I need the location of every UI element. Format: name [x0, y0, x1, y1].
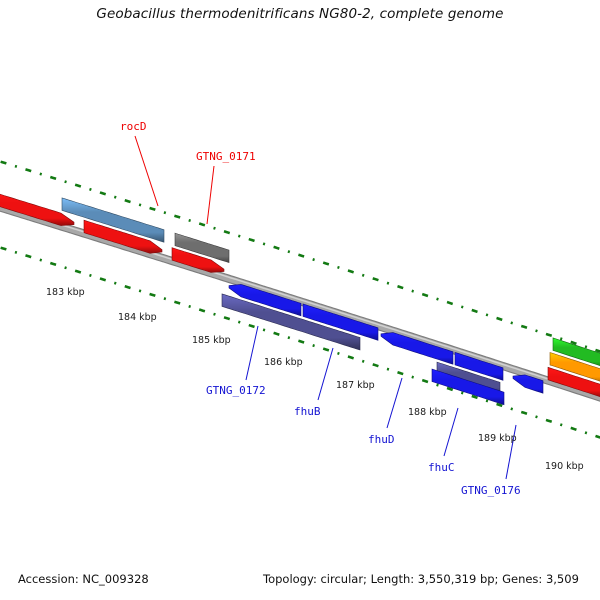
leader-line-GTNG_0171 — [207, 166, 214, 224]
ruler-tick-label: 185 kbp — [192, 335, 231, 346]
gene-label-GTNG_0171[interactable]: GTNG_0171 — [196, 150, 256, 163]
ruler-tick-label: 189 kbp — [478, 433, 517, 444]
gene-label-GTNG_0176[interactable]: GTNG_0176 — [461, 484, 521, 497]
leader-line-fhuD — [387, 378, 402, 428]
ruler-tick-label: 184 kbp — [118, 312, 157, 323]
gene-label-fhuB[interactable]: fhuB — [294, 405, 321, 418]
leader-line-rocD — [135, 136, 158, 206]
genome-view: Geobacillus thermodenitrificans NG80-2, … — [0, 0, 600, 600]
gene-label-fhuD[interactable]: fhuD — [368, 433, 395, 446]
genome-summary-text: Topology: circular; Length: 3,550,319 bp… — [263, 572, 579, 586]
gene-label-fhuC[interactable]: fhuC — [428, 461, 455, 474]
ruler-tick-label: 186 kbp — [264, 357, 303, 368]
leader-line-fhuB — [318, 348, 333, 400]
ruler-tick-label: 187 kbp — [336, 380, 375, 391]
gene-label-rocD[interactable]: rocD — [120, 120, 147, 133]
ruler-tick-label: 188 kbp — [408, 407, 447, 418]
accession-text: Accession: NC_009328 — [18, 572, 149, 586]
ruler-tick-label: 190 kbp — [545, 461, 584, 472]
ruler-tick-label: 183 kbp — [46, 287, 85, 298]
gene-label-GTNG_0172[interactable]: GTNG_0172 — [206, 384, 266, 397]
genome-canvas — [0, 0, 600, 600]
leader-line-GTNG_0172 — [246, 326, 258, 380]
